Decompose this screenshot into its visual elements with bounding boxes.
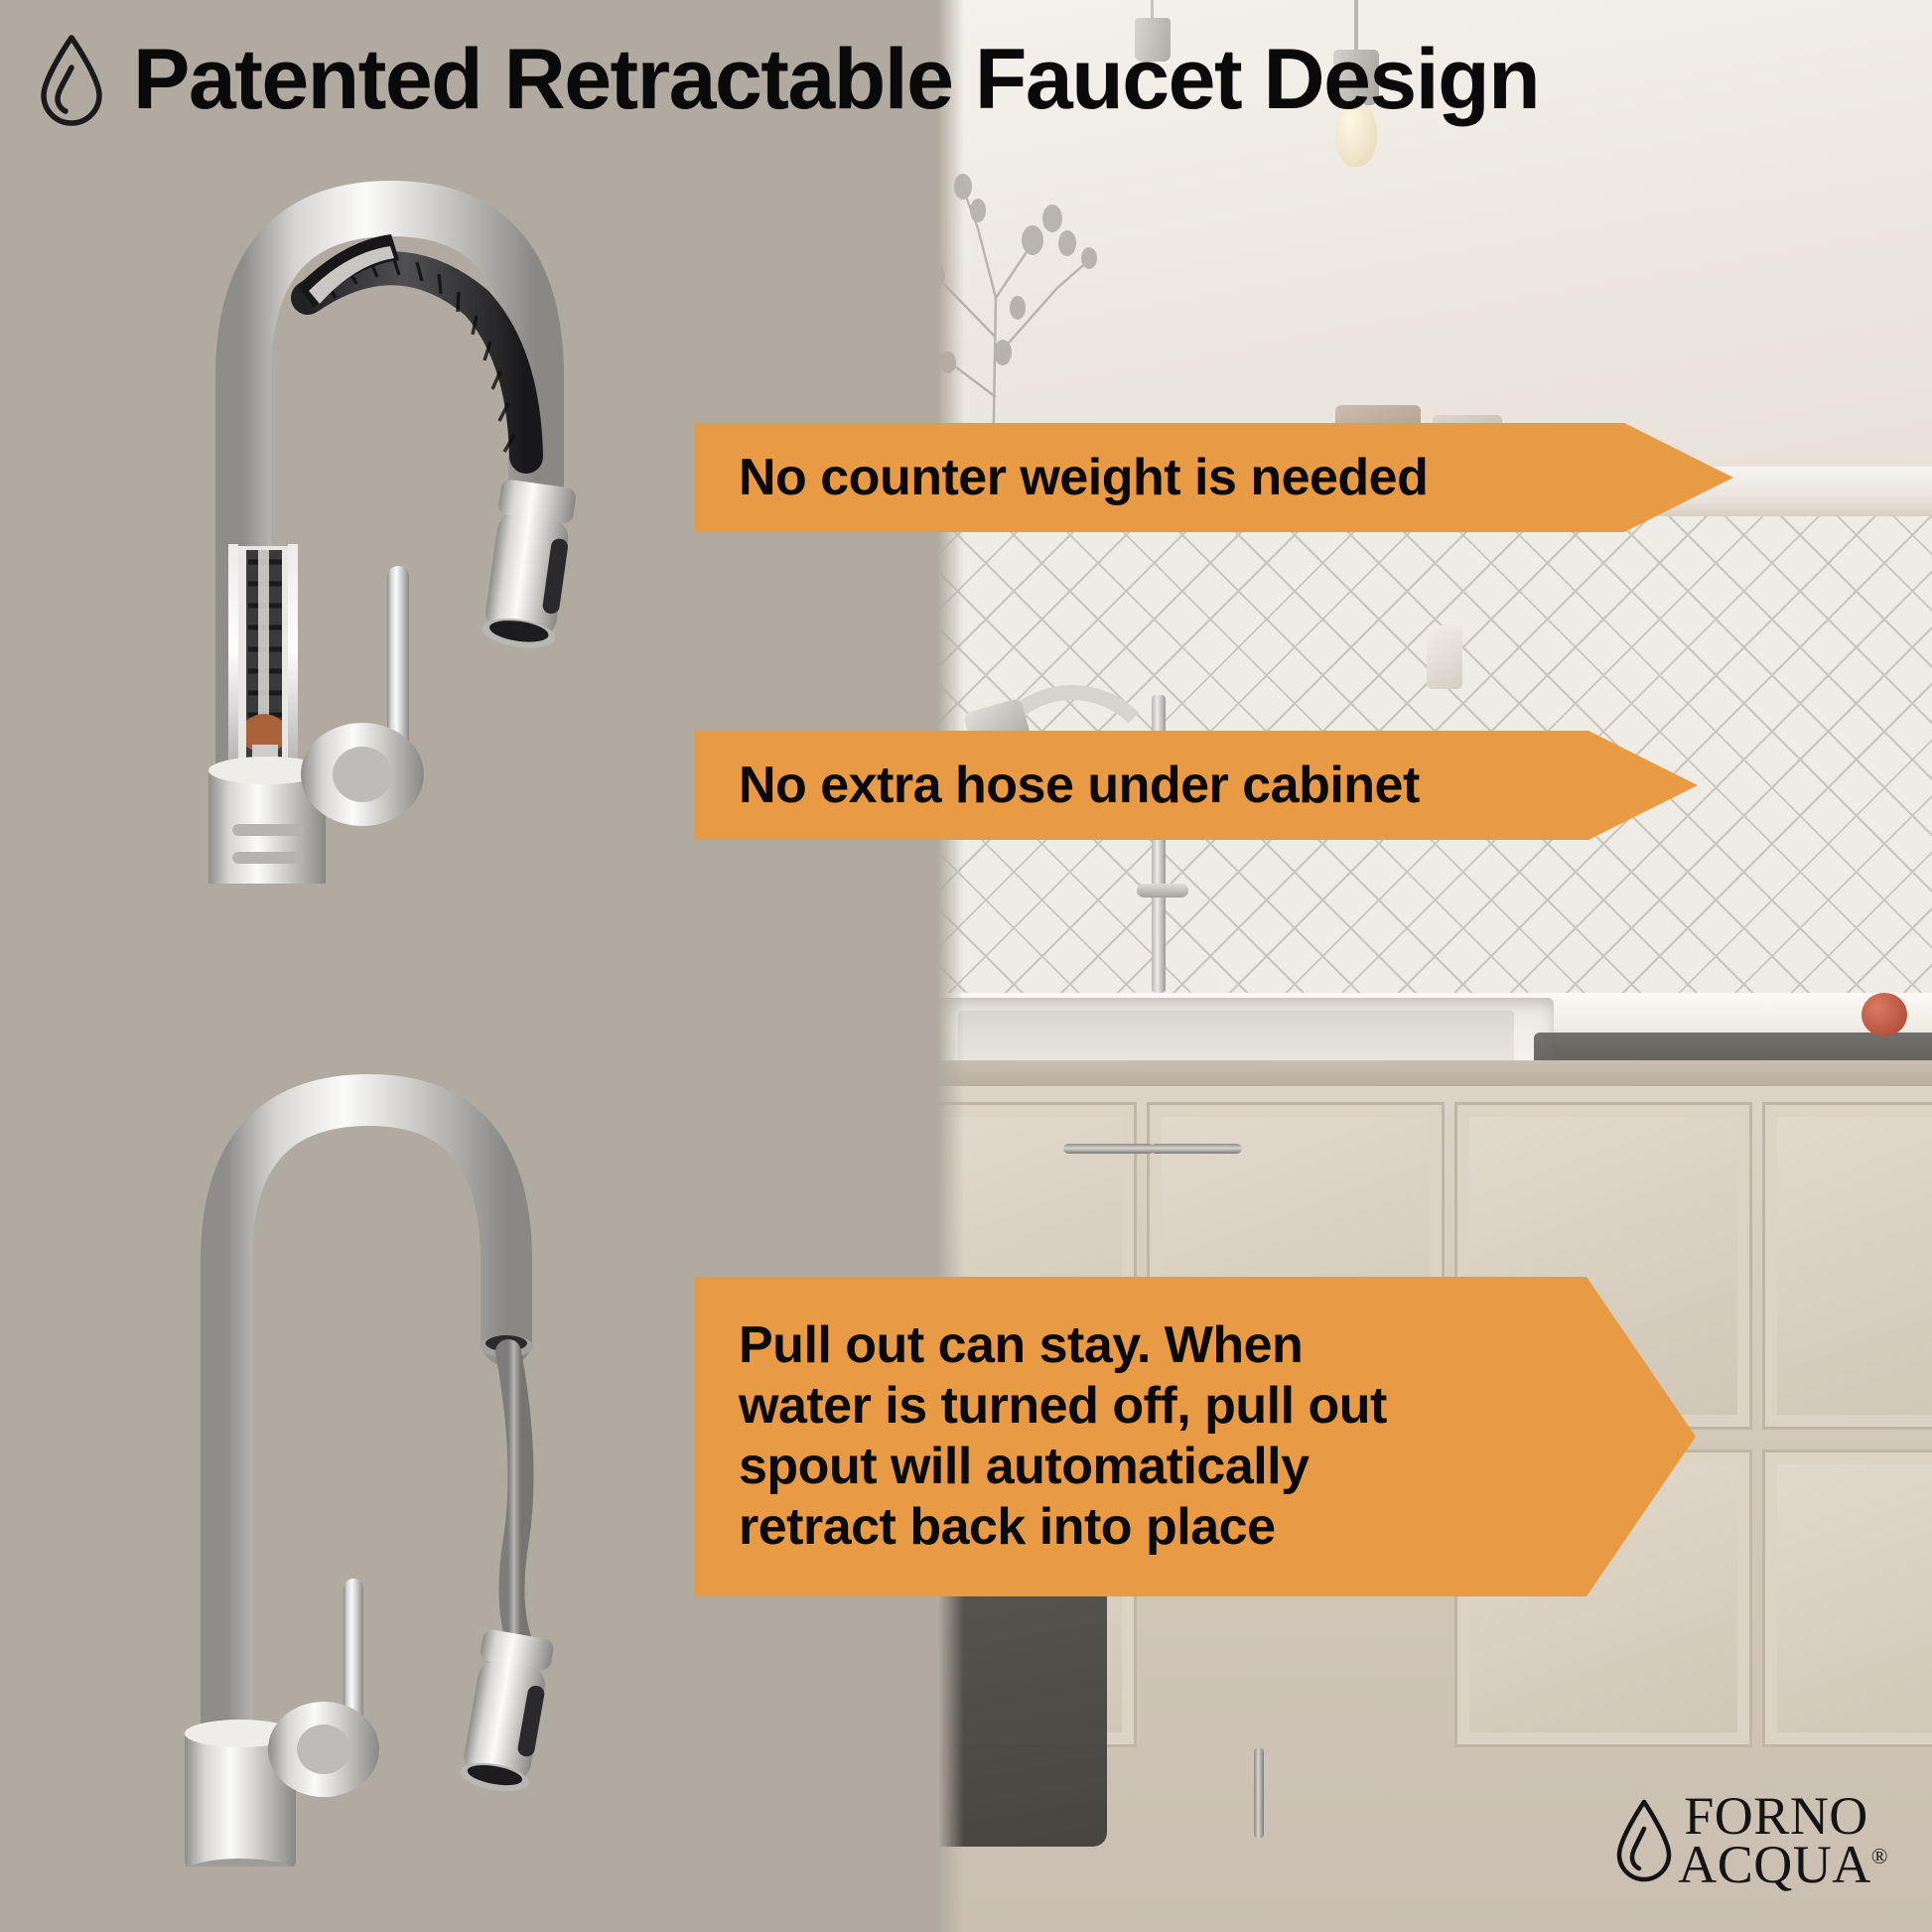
registered-mark: ® bbox=[1871, 1844, 1888, 1868]
brand-wordmark: FORNO ACQUA® bbox=[1684, 1792, 1888, 1890]
cabinet-door bbox=[1762, 1102, 1932, 1430]
panel-seam bbox=[938, 0, 964, 1932]
cabinet-handle bbox=[1063, 1144, 1155, 1154]
brand-logo: FORNO ACQUA® bbox=[1612, 1792, 1888, 1890]
brand-line-1: FORNO bbox=[1684, 1792, 1888, 1842]
water-drop-icon bbox=[36, 32, 107, 127]
counter-vase bbox=[1427, 625, 1462, 689]
water-drop-icon bbox=[1612, 1797, 1676, 1884]
brand-line-2: ACQUA® bbox=[1678, 1841, 1888, 1890]
callout-text: No extra hose under cabinet bbox=[739, 757, 1420, 815]
header: Patented Retractable Faucet Design bbox=[0, 0, 1932, 159]
cabinet-handle bbox=[1151, 1144, 1242, 1154]
infographic-canvas: Patented Retractable Faucet Design No co… bbox=[0, 0, 1932, 1932]
faucet-cutaway-retracted bbox=[149, 129, 665, 884]
kitchen-faucet-handle bbox=[1137, 884, 1188, 897]
cabinet-top-rail bbox=[938, 1060, 1932, 1086]
callout-banner-no-counter-weight: No counter weight is needed bbox=[695, 423, 1733, 532]
callout-banner-no-extra-hose: No extra hose under cabinet bbox=[695, 731, 1698, 840]
brand-line-2-text: ACQUA bbox=[1678, 1835, 1871, 1894]
callout-text: Pull out can stay. When water is turned … bbox=[739, 1315, 1387, 1557]
callout-banner-auto-retract: Pull out can stay. When water is turned … bbox=[695, 1277, 1696, 1596]
apple bbox=[1862, 993, 1907, 1036]
page-title: Patented Retractable Faucet Design bbox=[133, 31, 1539, 129]
cabinet-door bbox=[1762, 1449, 1932, 1747]
callout-text: No counter weight is needed bbox=[739, 449, 1428, 507]
kitchen-scene-photo bbox=[938, 0, 1932, 1932]
faucet-extended-pullout bbox=[139, 1042, 655, 1866]
cabinet-handle bbox=[1254, 1747, 1264, 1839]
